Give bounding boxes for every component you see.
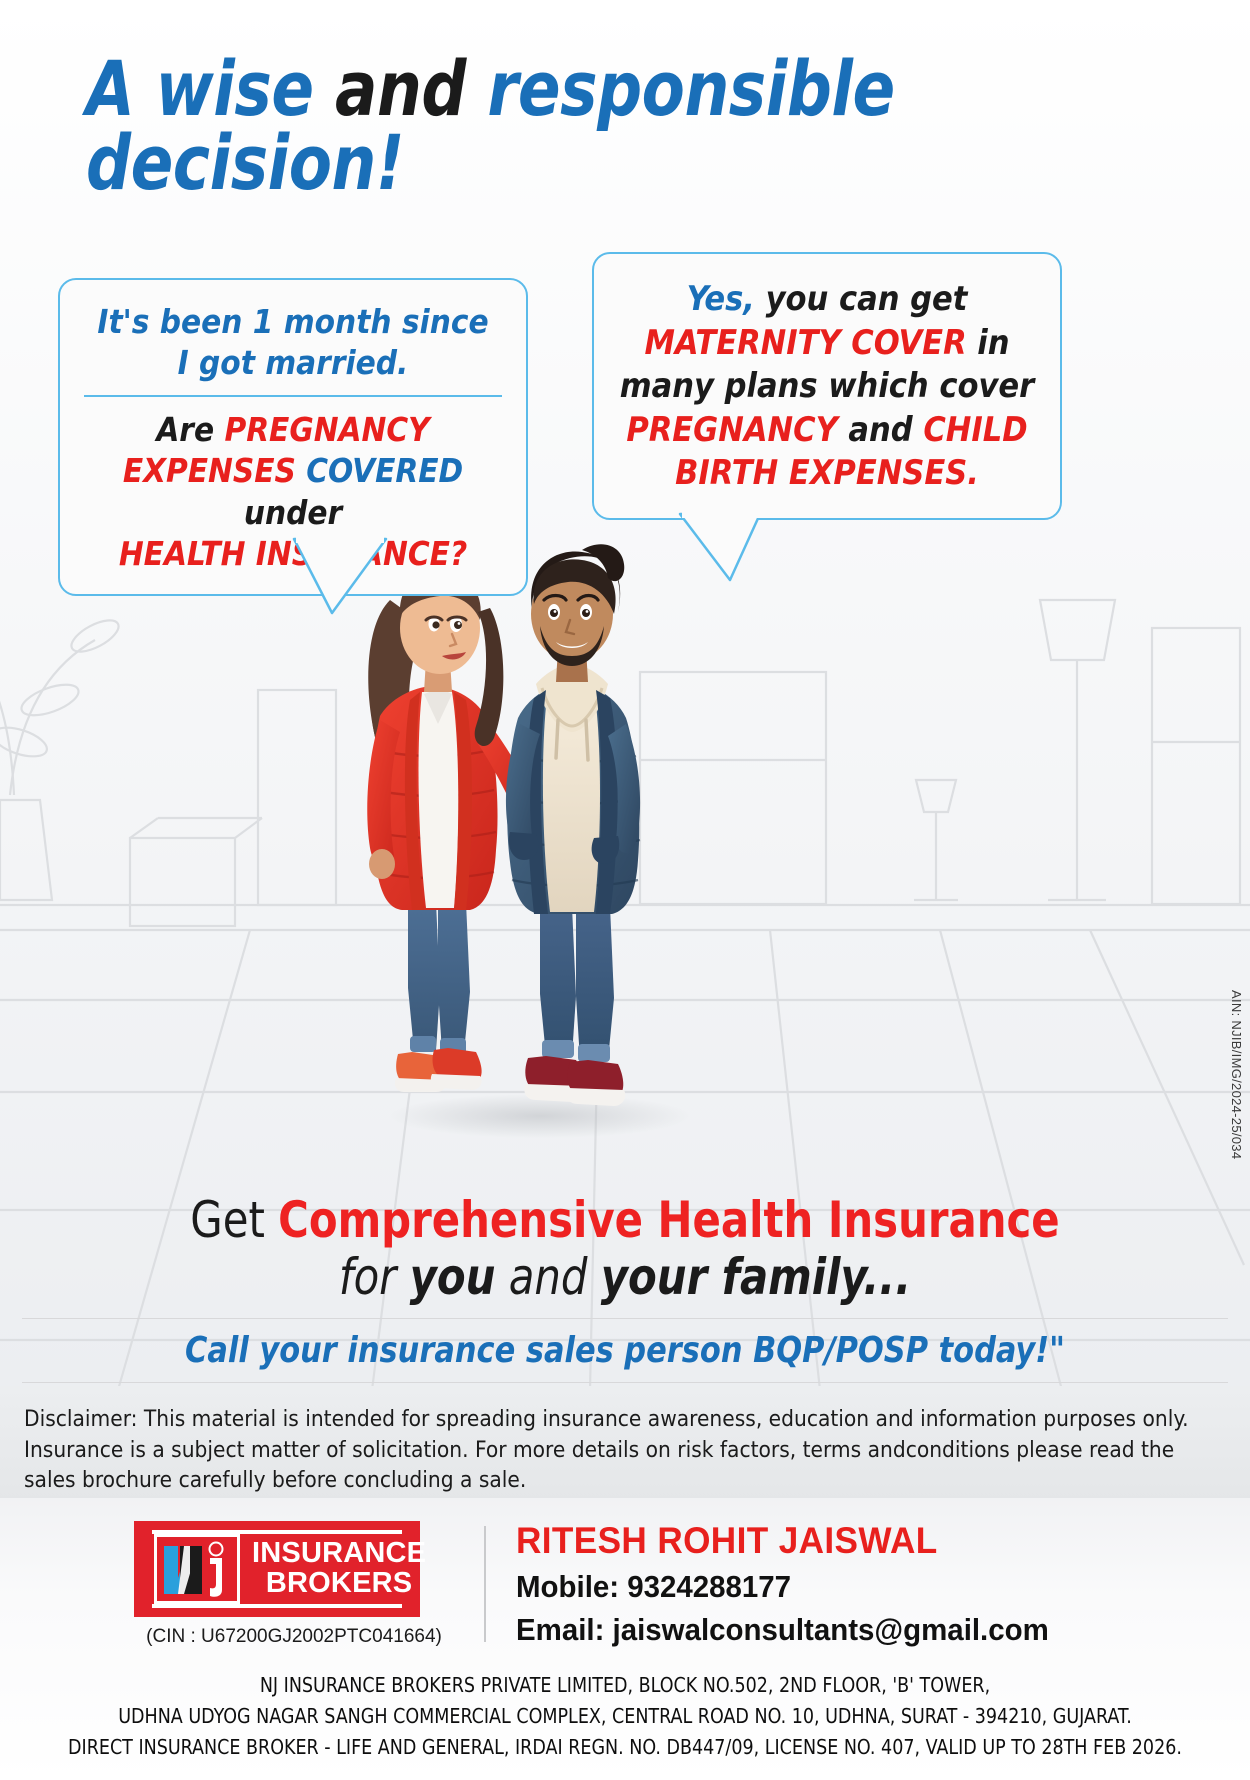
- disclaimer-text: Disclaimer: This material is intended fo…: [0, 1386, 1250, 1516]
- headline-line-2: decision!: [86, 118, 404, 207]
- a-and: and: [838, 410, 924, 450]
- tagline-comprehensive: Comprehensive Health Insurance: [278, 1191, 1060, 1249]
- tagline-and: and: [495, 1248, 600, 1306]
- a-in: in: [967, 323, 1010, 363]
- agent-email[interactable]: Email: jaiswalconsultants@gmail.com: [516, 1612, 1086, 1648]
- q-are: Are: [156, 410, 224, 449]
- call-to-action: Call your insurance sales person BQP/POS…: [38, 1330, 1213, 1371]
- bubble-left-line-2: I got married.: [78, 343, 508, 384]
- q-covered: COVERED: [306, 451, 463, 490]
- a-pregnancy: PREGNANCY: [626, 410, 837, 450]
- address-line-3: DIRECT INSURANCE BROKER - LIFE AND GENER…: [31, 1732, 1219, 1763]
- tagline-for: for: [339, 1248, 410, 1306]
- footer-divider: [484, 1526, 486, 1642]
- divider-above-cta: [22, 1318, 1228, 1319]
- bubble-left-divider: [84, 395, 502, 397]
- speech-bubble-answer: Yes, you can get MATERNITY COVER in many…: [592, 252, 1062, 520]
- a-maternity-cover: MATERNITY COVER: [644, 323, 966, 363]
- tagline-get: Get: [190, 1191, 278, 1249]
- logo-wordmark: INSURANCE BROKERS: [252, 1539, 426, 1598]
- divider-below-cta: [22, 1382, 1228, 1383]
- company-address: NJ INSURANCE BROKERS PRIVATE LIMITED, BL…: [31, 1670, 1219, 1762]
- a-many-plans: many plans which cover: [620, 366, 1035, 406]
- page-title: A wise and responsible decision!: [86, 52, 1006, 199]
- agent-name: RITESH ROHIT JAISWAL: [516, 1520, 1086, 1562]
- contact-column: RITESH ROHIT JAISWAL Mobile: 9324288177 …: [516, 1520, 1116, 1648]
- cin-number: (CIN : U67200GJ2002PTC041664): [134, 1626, 454, 1648]
- q-expenses: EXPENSES: [123, 451, 306, 490]
- nj-insurance-brokers-logo: INSURANCE BROKERS: [134, 1521, 420, 1617]
- logo-column: INSURANCE BROKERS (CIN : U67200GJ2002PTC…: [134, 1521, 454, 1648]
- footer: INSURANCE BROKERS (CIN : U67200GJ2002PTC…: [0, 1498, 1250, 1780]
- bubble-right-text: Yes, you can get MATERNITY COVER in many…: [616, 278, 1038, 496]
- bubble-left-line-1: It's been 1 month since: [78, 302, 508, 343]
- agent-mobile[interactable]: Mobile: 9324288177: [516, 1569, 1086, 1605]
- tagline: Get Comprehensive Health Insurance for y…: [44, 1192, 1207, 1305]
- logo-line-1: INSURANCE: [252, 1539, 426, 1569]
- tagline-you: you: [410, 1248, 496, 1306]
- a-birth-expenses: BIRTH EXPENSES.: [675, 453, 979, 493]
- man-figure: [506, 544, 640, 1106]
- address-line-1: NJ INSURANCE BROKERS PRIVATE LIMITED, BL…: [31, 1670, 1219, 1701]
- a-you-can-get: you can get: [755, 279, 967, 319]
- tagline-family: your family...: [601, 1248, 911, 1306]
- ain-code: AIN: NJIB/IMG/2024-25/034: [1229, 990, 1244, 1159]
- q-pregnancy: PREGNANCY: [224, 410, 429, 449]
- advertisement-poster: A wise and responsible decision! It's be…: [0, 0, 1250, 1780]
- address-line-2: UDHNA UDYOG NAGAR SANGH COMMERCIAL COMPL…: [31, 1701, 1219, 1732]
- a-child: CHILD: [923, 410, 1027, 450]
- a-yes: Yes,: [687, 279, 755, 319]
- nj-monogram-icon: [154, 1534, 240, 1604]
- q-under: under: [244, 493, 342, 532]
- headline-part-3: responsible: [466, 44, 895, 133]
- logo-line-2: BROKERS: [252, 1569, 426, 1599]
